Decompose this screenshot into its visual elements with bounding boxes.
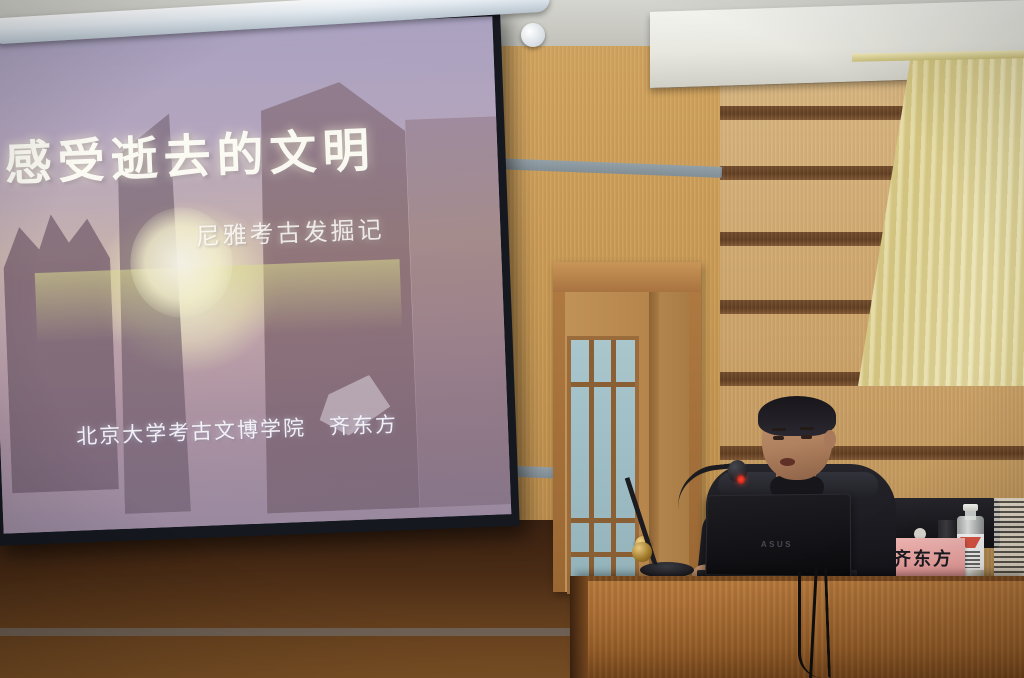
projection-haze: [0, 16, 511, 533]
shadowed-lower-wall: [0, 520, 580, 678]
lecture-hall-scene: 感受逝去的文明 尼雅考古发掘记 北京大学考古文博学院 齐东方 齐东方: [0, 0, 1024, 678]
microphone-indicator-light: [737, 475, 745, 484]
bottle-cap: [963, 504, 978, 511]
speaker-mouth: [780, 458, 795, 466]
laptop-brand-logo: ASUS: [761, 540, 793, 549]
slide-title: 感受逝去的文明: [3, 111, 376, 194]
name-plate-text: 齐东方: [893, 545, 953, 571]
screen-roller-endcap: [521, 23, 545, 47]
slide-subtitle: 尼雅考古发掘记: [195, 210, 385, 252]
notebook-stack: [994, 498, 1024, 576]
door[interactable]: [553, 262, 701, 592]
laptop[interactable]: ASUS: [705, 494, 851, 578]
microphone-brass-joint: [632, 542, 652, 562]
door-glass-border: [567, 336, 639, 594]
speaker-hair: [758, 396, 836, 436]
podium-left-edge: [570, 576, 588, 678]
projection-screen-surface: 感受逝去的文明 尼雅考古发掘记 北京大学考古文博学院 齐东方: [0, 16, 511, 533]
speaker-ear: [824, 430, 836, 449]
cable-b: [798, 572, 823, 678]
door-header: [553, 262, 701, 292]
projection-screen: 感受逝去的文明 尼雅考古发掘记 北京大学考古文博学院 齐东方: [0, 6, 520, 546]
